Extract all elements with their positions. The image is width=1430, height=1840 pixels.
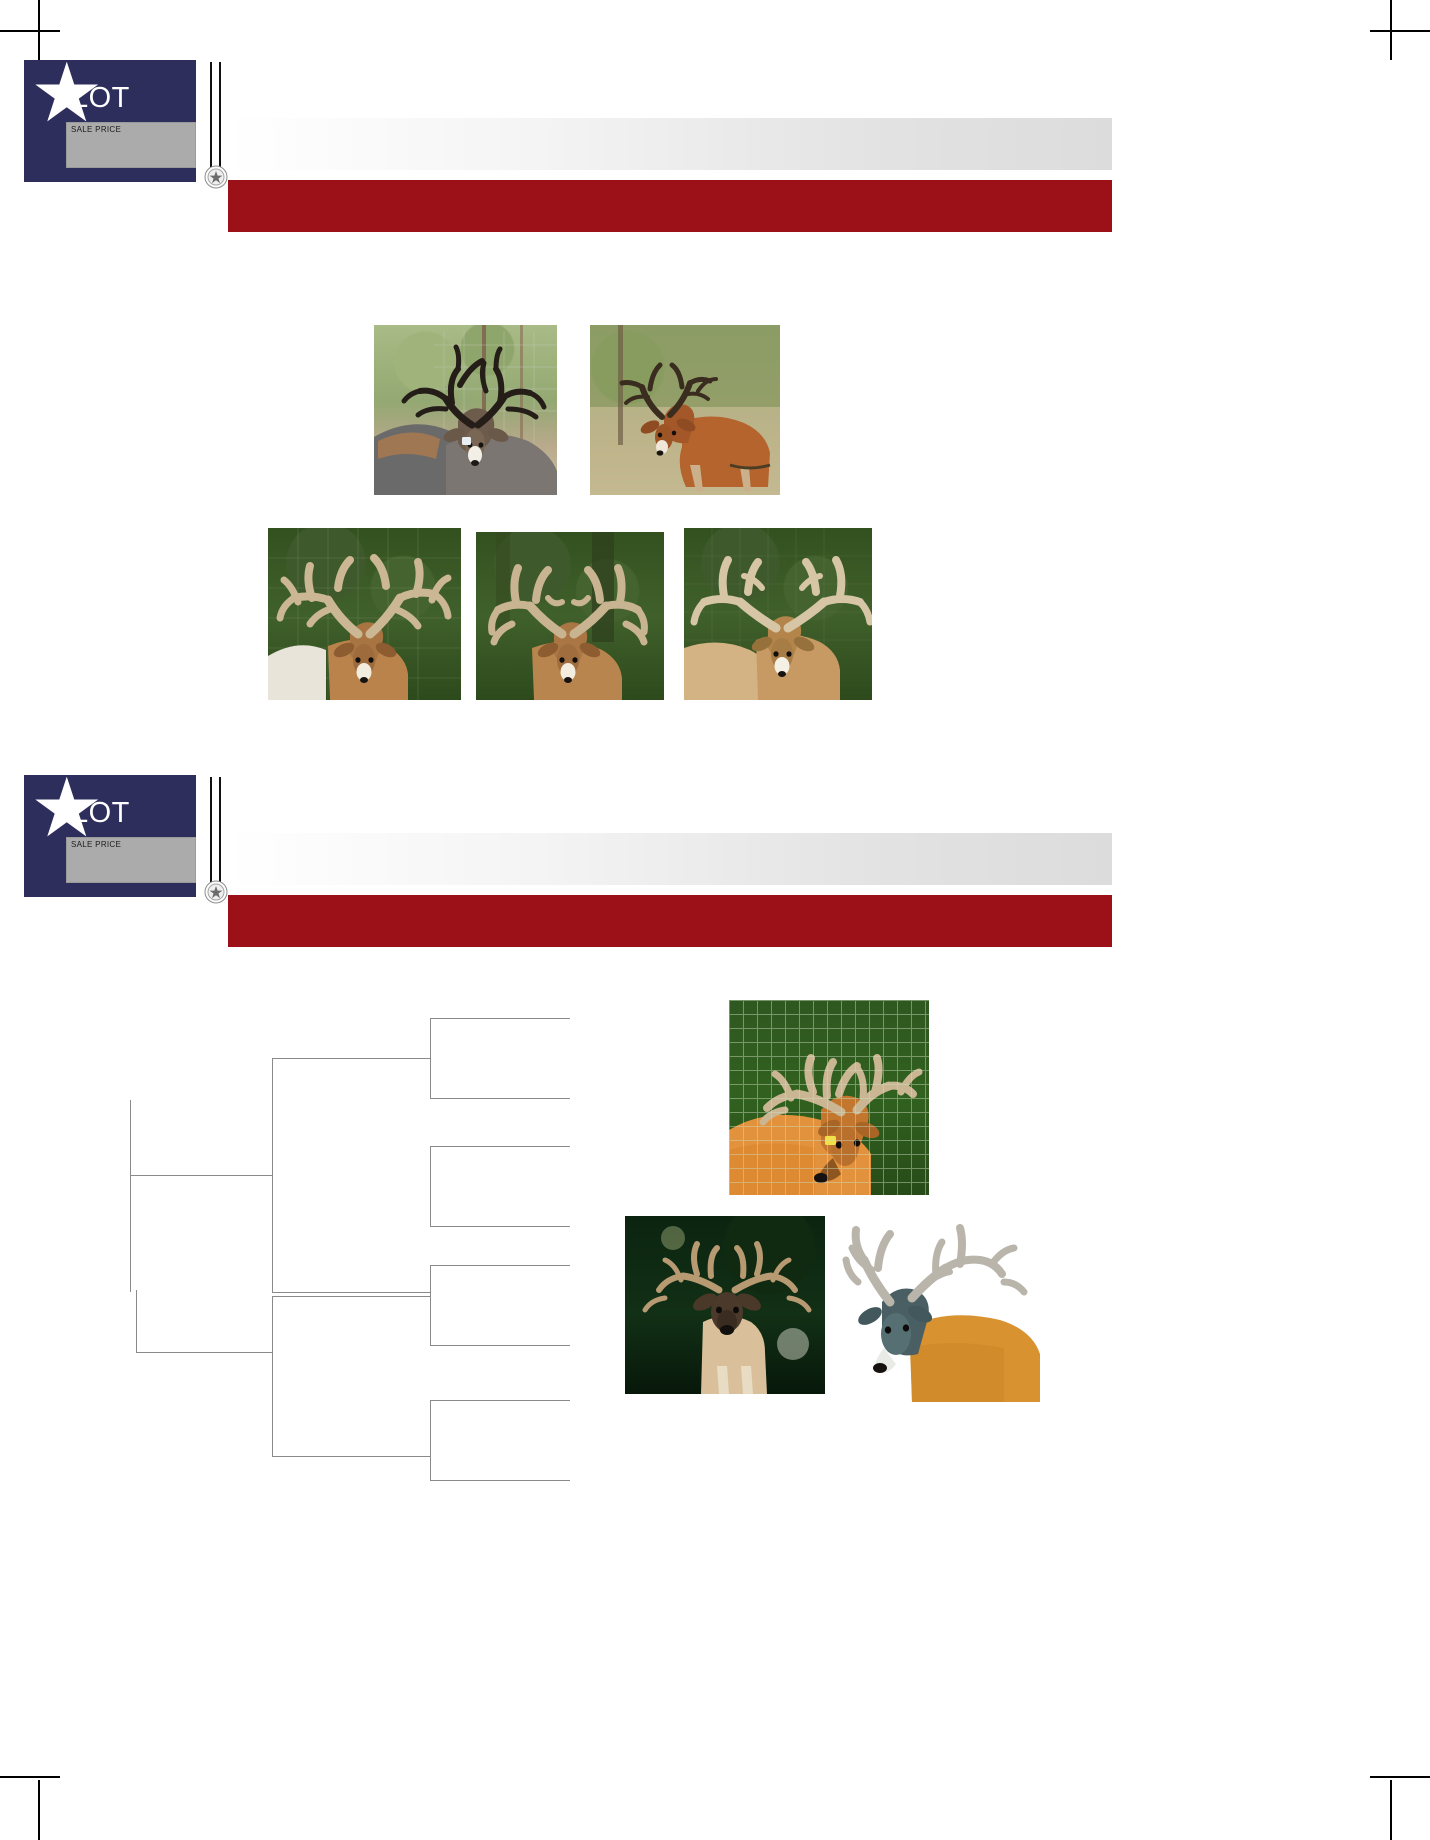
pedigree-bracket	[0, 0, 620, 1823]
bracket-gen3-d1-h	[430, 1400, 570, 1401]
bracket-gen3-c2-h	[430, 1345, 570, 1346]
bracket-gen2-c-h	[272, 1296, 430, 1297]
bracket-dam-stem	[136, 1352, 272, 1353]
bracket-gen2-a-v	[430, 1018, 431, 1098]
bracket-gen2-c-v	[430, 1265, 431, 1345]
bracket-gen3-c1-h	[430, 1265, 570, 1266]
photo-buck-velvet-3	[684, 528, 872, 700]
bracket-root-v2	[136, 1290, 137, 1352]
bracket-gen1-dam-v	[272, 1296, 273, 1456]
bracket-gen2-b-h	[272, 1292, 430, 1293]
bracket-gen1-sire-v	[272, 1058, 273, 1292]
crop-mark-top-right-h	[1370, 30, 1430, 32]
photo-buck-cutout	[840, 1208, 1040, 1402]
bracket-root-v	[130, 1100, 131, 1292]
bracket-gen3-a1-h	[430, 1018, 570, 1019]
crop-mark-bottom-right-h	[1370, 1776, 1430, 1778]
crop-mark-top-right-v	[1390, 0, 1392, 60]
bracket-gen2-a-h	[272, 1058, 430, 1059]
crop-mark-bottom-right-v	[1390, 1780, 1392, 1840]
catalog-page: ★ LOT SALE PRICE	[0, 0, 1430, 1823]
bracket-sire-stem	[130, 1175, 272, 1176]
bracket-gen2-b-v	[430, 1146, 431, 1226]
bracket-gen2-d-v	[430, 1400, 431, 1480]
bracket-gen2-d-h	[272, 1456, 430, 1457]
bracket-gen3-b1-h	[430, 1146, 570, 1147]
photo-buck-mesh-fence	[729, 1000, 929, 1195]
bracket-gen3-a2-h	[430, 1098, 570, 1099]
bracket-gen3-d2-h	[430, 1480, 570, 1481]
bracket-gen3-b2-h	[430, 1226, 570, 1227]
photo-buck-night	[625, 1216, 825, 1394]
